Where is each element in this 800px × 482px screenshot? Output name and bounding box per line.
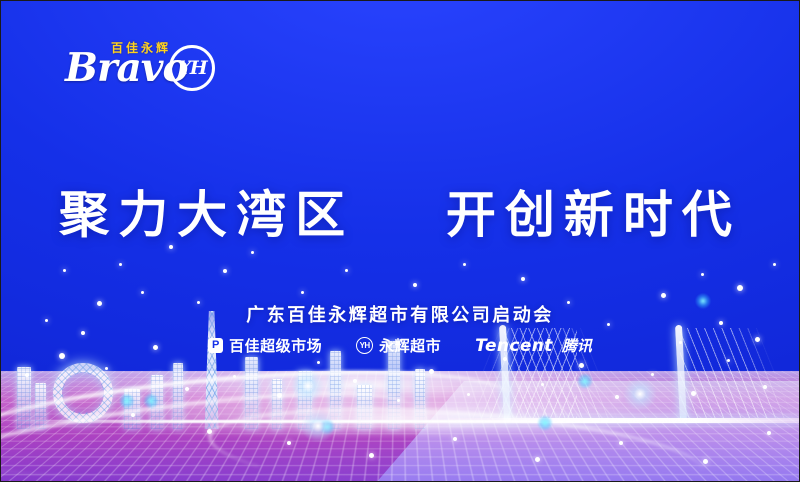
brand-name-tencent: 腾讯 (562, 335, 592, 356)
particle (131, 413, 135, 417)
brand-name-parknshop: 百佳超级市场 (229, 335, 322, 356)
particle (763, 385, 767, 389)
brand-name-yonghui: 永辉超市 (379, 335, 441, 356)
particle (727, 359, 730, 362)
star-burst (301, 409, 335, 443)
particle (353, 379, 357, 383)
particle (453, 437, 457, 441)
particle (651, 373, 654, 376)
brand-row: P 百佳超级市场 YH 永辉超市 Tencent 腾讯 (1, 335, 799, 356)
page-title: 聚力大湾区 开创新时代 (1, 187, 799, 245)
particle (619, 441, 623, 445)
particle (233, 375, 236, 378)
particle (503, 357, 507, 361)
particle (701, 273, 704, 276)
headline-right: 开创新时代 (446, 187, 741, 243)
particle (541, 383, 544, 386)
particle (773, 263, 776, 266)
cyan-glow-particle (537, 415, 553, 431)
particle (301, 291, 304, 294)
particle (535, 457, 540, 462)
particle (277, 393, 282, 398)
particle (185, 387, 189, 391)
particle (521, 277, 525, 281)
yonghui-yh-icon: YH (356, 337, 373, 354)
bravo-yh-logo: 百佳永辉 Bravo YH (65, 37, 215, 101)
particle (223, 269, 227, 273)
particle (169, 245, 173, 249)
parknshop-p-icon: P (208, 338, 223, 353)
particle (463, 263, 466, 266)
cyan-glow-particle (143, 393, 159, 409)
particle (397, 399, 400, 402)
cyan-glow-particle (119, 393, 135, 409)
particle (691, 391, 696, 396)
particle (63, 269, 66, 272)
particle (119, 263, 122, 266)
particle (105, 367, 108, 370)
brand-yonghui: YH 永辉超市 (356, 335, 441, 356)
particle (25, 373, 29, 377)
brand-tencent: Tencent 腾讯 (475, 335, 592, 356)
logo-yh-badge-icon: YH (169, 45, 215, 91)
particle (703, 459, 708, 464)
particle (345, 269, 348, 272)
particle (141, 291, 144, 294)
logo-yh-badge-text: YH (177, 57, 207, 79)
particle (615, 395, 619, 399)
star-burst (623, 377, 657, 411)
tencent-wordmark-icon: Tencent (475, 336, 553, 356)
particle (767, 431, 771, 435)
particle (661, 293, 666, 298)
cyan-glow-particle (577, 373, 593, 389)
event-banner: 百佳永辉 Bravo YH 聚力大湾区 开创新时代 广东百佳永辉超市有限公司启动… (0, 0, 800, 482)
particle (413, 283, 417, 287)
particle (467, 393, 470, 396)
particle (251, 251, 254, 254)
brand-parknshop: P 百佳超级市场 (208, 335, 322, 356)
particle (579, 363, 584, 368)
particle (737, 285, 743, 291)
particle (369, 453, 374, 458)
particle (317, 361, 320, 364)
page-subtitle: 广东百佳永辉超市有限公司启动会 (1, 301, 799, 327)
particle (207, 429, 212, 434)
star-burst (291, 369, 325, 403)
particle (287, 441, 291, 445)
particle (429, 369, 434, 374)
headline-left: 聚力大湾区 (59, 187, 354, 243)
